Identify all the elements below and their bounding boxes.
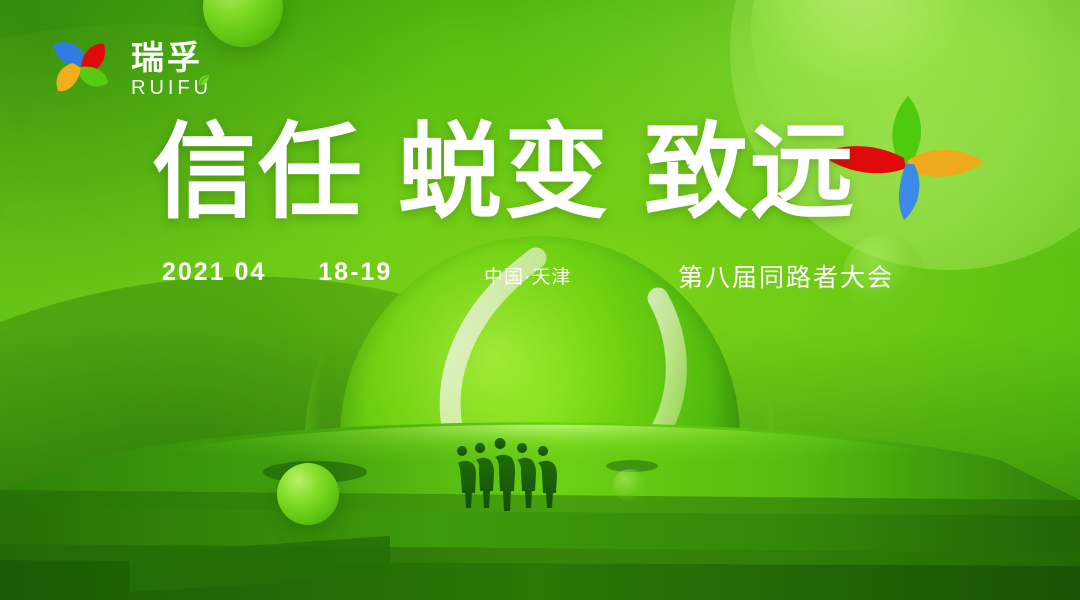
brand-name-cn: 瑞孚 [131, 41, 212, 74]
page-title: 信任 蜕变 致远 [152, 120, 856, 224]
leaf-icon [197, 71, 210, 84]
event-conference-name: 第八届同路者大会 [678, 258, 894, 294]
bubble-stage-right [613, 469, 646, 502]
event-date-year-month: 2021 04 [162, 258, 266, 286]
bubble-stage-left [277, 463, 339, 525]
people-silhouette-group-icon [448, 436, 568, 548]
brand-logo[interactable]: 瑞孚 RUIFU [47, 33, 212, 101]
brand-name-en: RUIFU [131, 78, 212, 98]
pinwheel-logo-icon [47, 33, 115, 101]
event-date: 2021 04 18-19 [162, 258, 392, 287]
event-city: 中国·天津 [484, 262, 571, 289]
headline-word-1: 信任 [152, 120, 364, 224]
event-date-days: 18-19 [318, 258, 392, 286]
headline-word-3: 致远 [644, 120, 856, 224]
conference-poster: 瑞孚 RUIFU 信任 蜕变 致远 2021 04 18-19 中国·天津 第八… [0, 0, 1080, 600]
headline-word-2: 蜕变 [398, 120, 610, 224]
